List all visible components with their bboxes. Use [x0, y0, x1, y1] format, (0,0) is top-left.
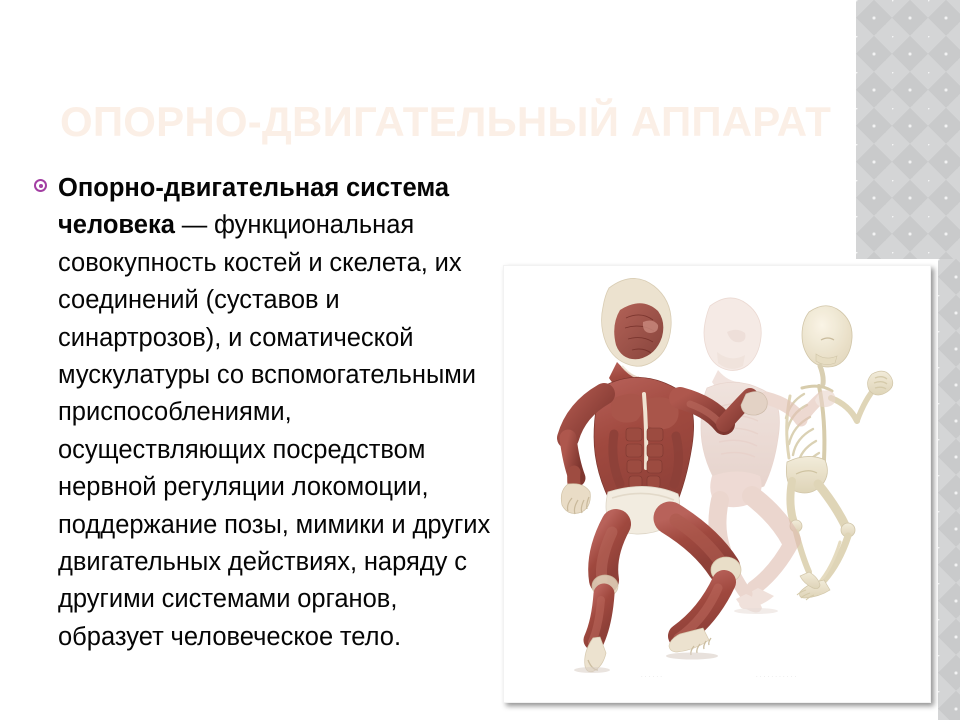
- paragraph-rest: — функциональная совокупность костей и с…: [58, 211, 490, 650]
- ring-bullet-icon: [34, 179, 47, 192]
- picture-caption-left: · · · · · ·: [641, 674, 662, 680]
- anatomy-illustration: · · · · · · · · · · · · · · · · ·: [504, 266, 930, 702]
- page-title: ОПОРНО-ДВИГАТЕЛЬНЫЙ АППАРАТ: [60, 97, 940, 149]
- slide-canvas: ОПОРНО-ДВИГАТЕЛЬНЫЙ АППАРАТ Опорно-двига…: [0, 0, 960, 720]
- decorative-diamond-panel-right-strip: [938, 259, 960, 720]
- anatomy-picture-frame[interactable]: · · · · · · · · · · · · · · · · ·: [503, 265, 931, 703]
- picture-caption-right: · · · · · · · · · · ·: [756, 674, 797, 680]
- content-body: Опорно-двигательная система человека — ф…: [28, 170, 498, 656]
- running-figures-svg: [504, 266, 930, 702]
- skeleton-figure: [786, 306, 893, 600]
- list-item: Опорно-двигательная система человека — ф…: [28, 170, 498, 656]
- paragraph-text: Опорно-двигательная система человека — ф…: [58, 170, 498, 656]
